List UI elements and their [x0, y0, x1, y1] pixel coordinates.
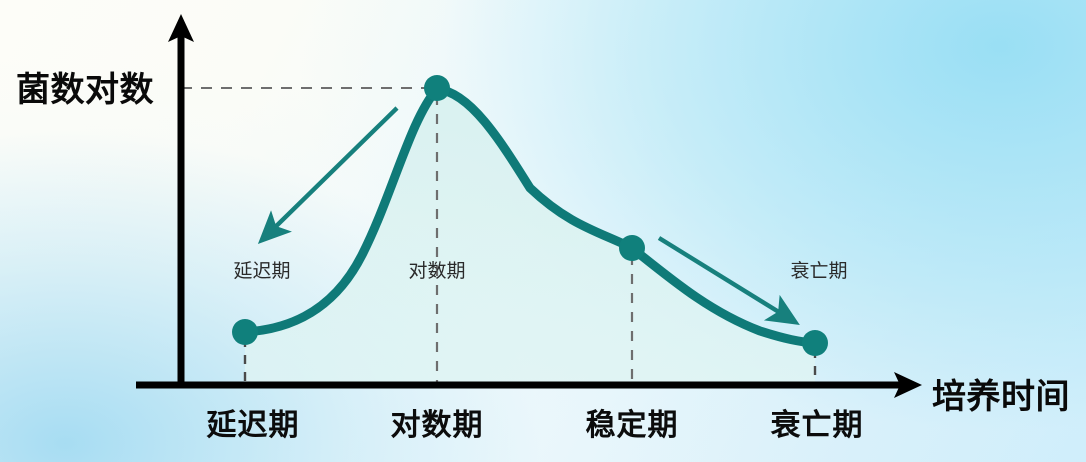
y-axis-title: 菌数对数 [16, 62, 154, 111]
phase-tick-label-log: 对数期 [391, 400, 484, 444]
phase-tick-label-stationary: 稳定期 [586, 400, 679, 444]
inner-label-decline: 衰亡期 [790, 256, 847, 283]
inner-label-lag: 延迟期 [233, 256, 290, 283]
x-axis-title: 培养时间 [932, 369, 1070, 418]
marker-lag-phase[interactable] [232, 319, 258, 345]
phase-tick-label-decline: 衰亡期 [771, 400, 864, 444]
growth-curve-figure: 菌数对数 培养时间 延迟期 对数期 稳定期 衰亡期 延迟期 对数期 衰亡期 [0, 0, 1086, 462]
phase-tick-label-lag: 延迟期 [207, 400, 300, 444]
marker-stationary-phase[interactable] [619, 235, 645, 261]
inner-label-log: 对数期 [408, 256, 465, 283]
curve-area-fill [245, 89, 815, 385]
chart-svg [0, 0, 1086, 462]
marker-log-phase[interactable] [424, 75, 450, 101]
marker-decline-phase[interactable] [802, 330, 828, 356]
